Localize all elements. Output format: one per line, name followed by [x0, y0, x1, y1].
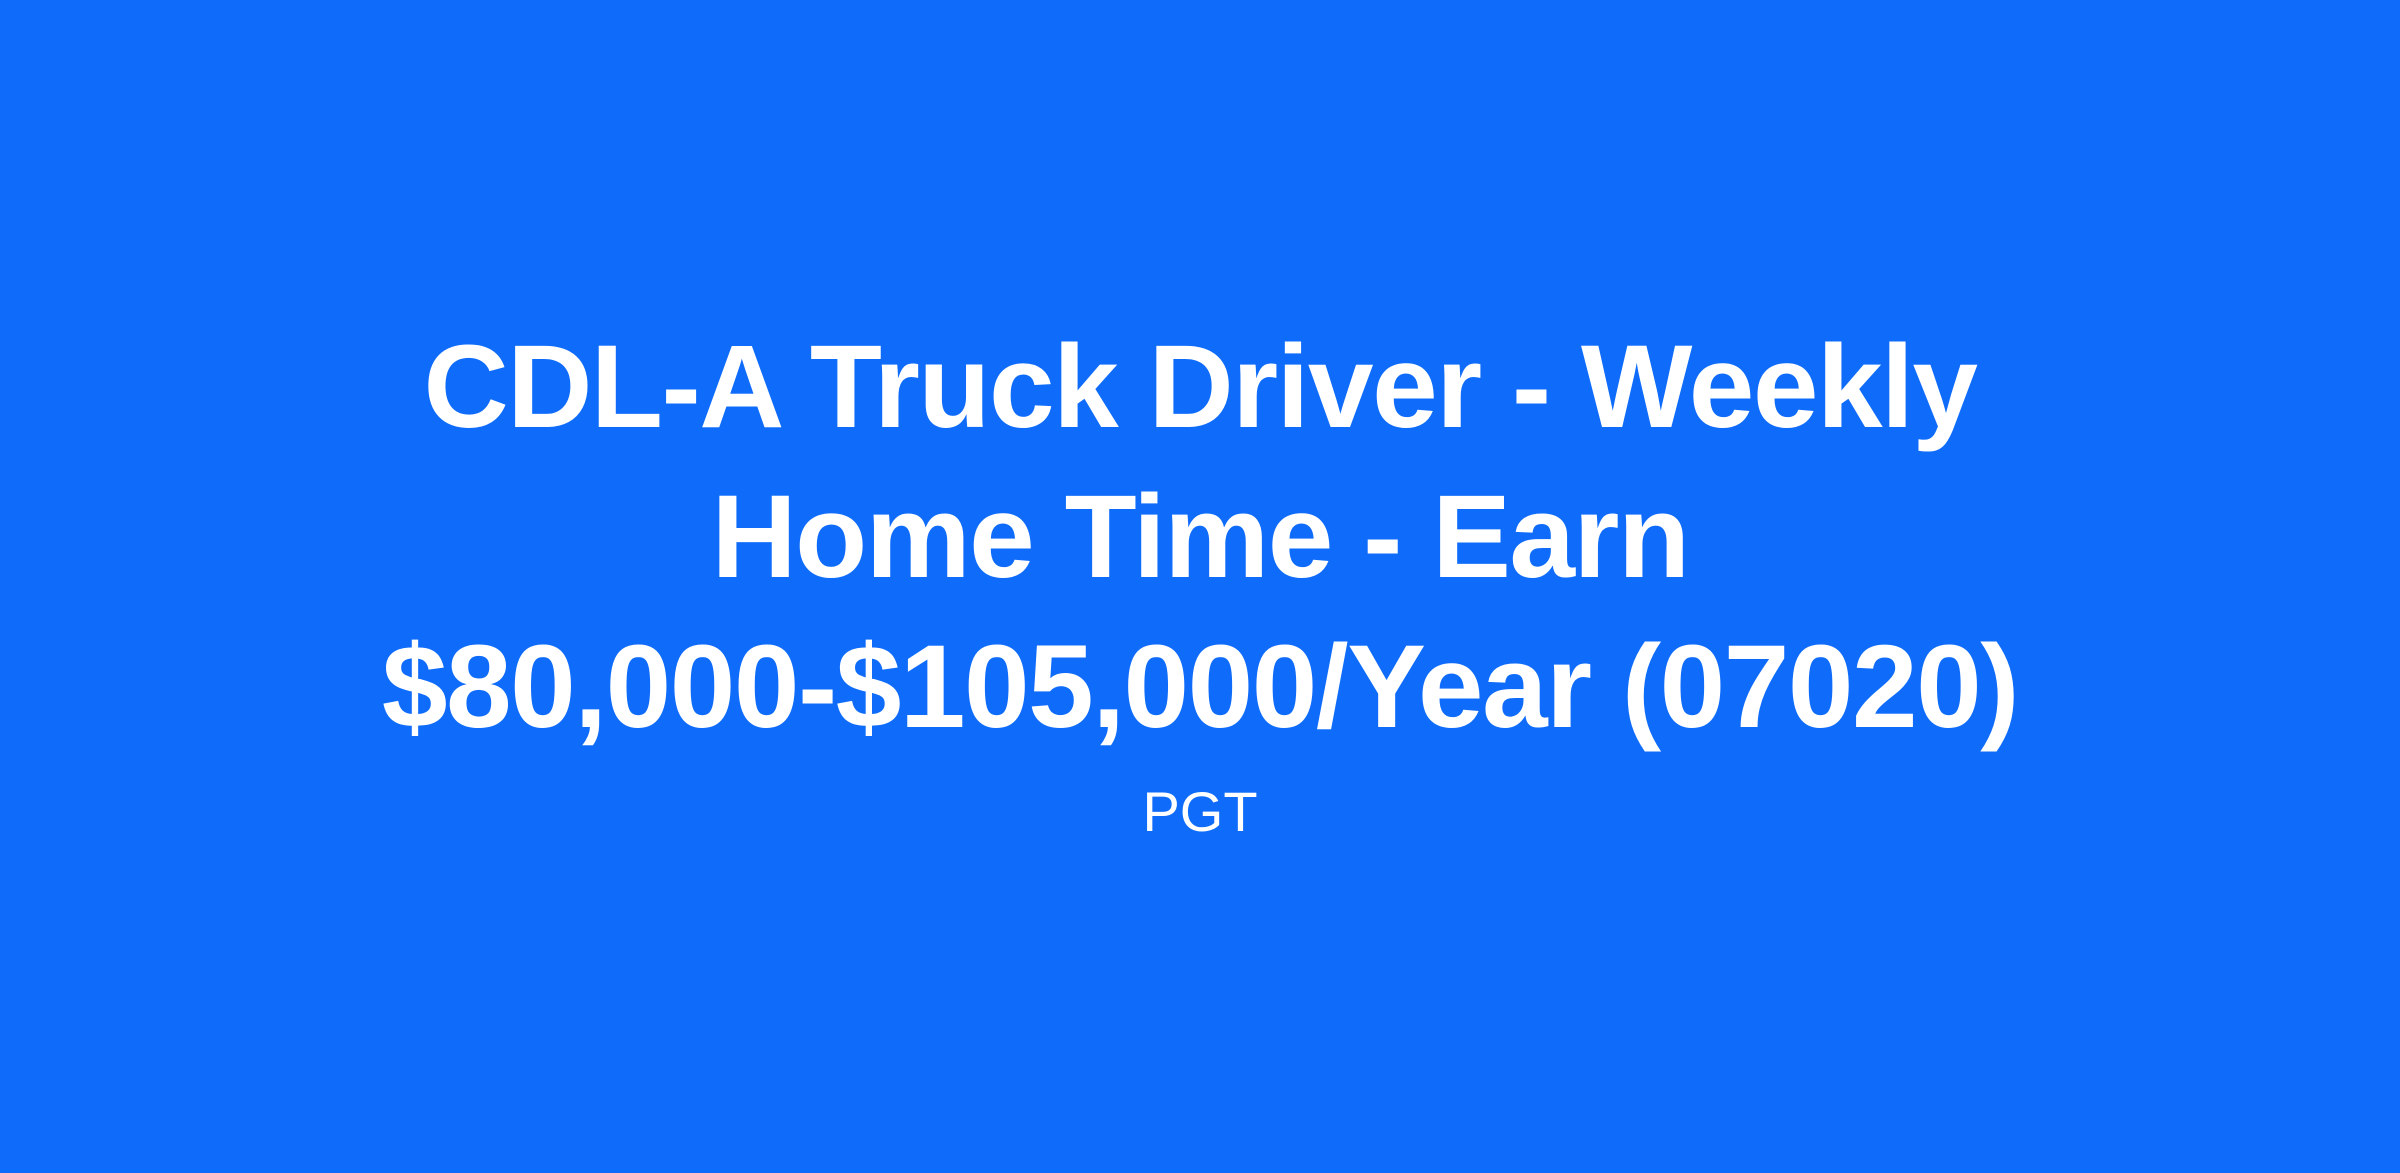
- card-content: CDL-A Truck Driver - Weekly Home Time - …: [370, 312, 2030, 846]
- job-title: CDL-A Truck Driver - Weekly Home Time - …: [370, 312, 2030, 762]
- job-preview-card: CDL-A Truck Driver - Weekly Home Time - …: [0, 0, 2400, 1173]
- company-name: PGT: [1142, 778, 1257, 846]
